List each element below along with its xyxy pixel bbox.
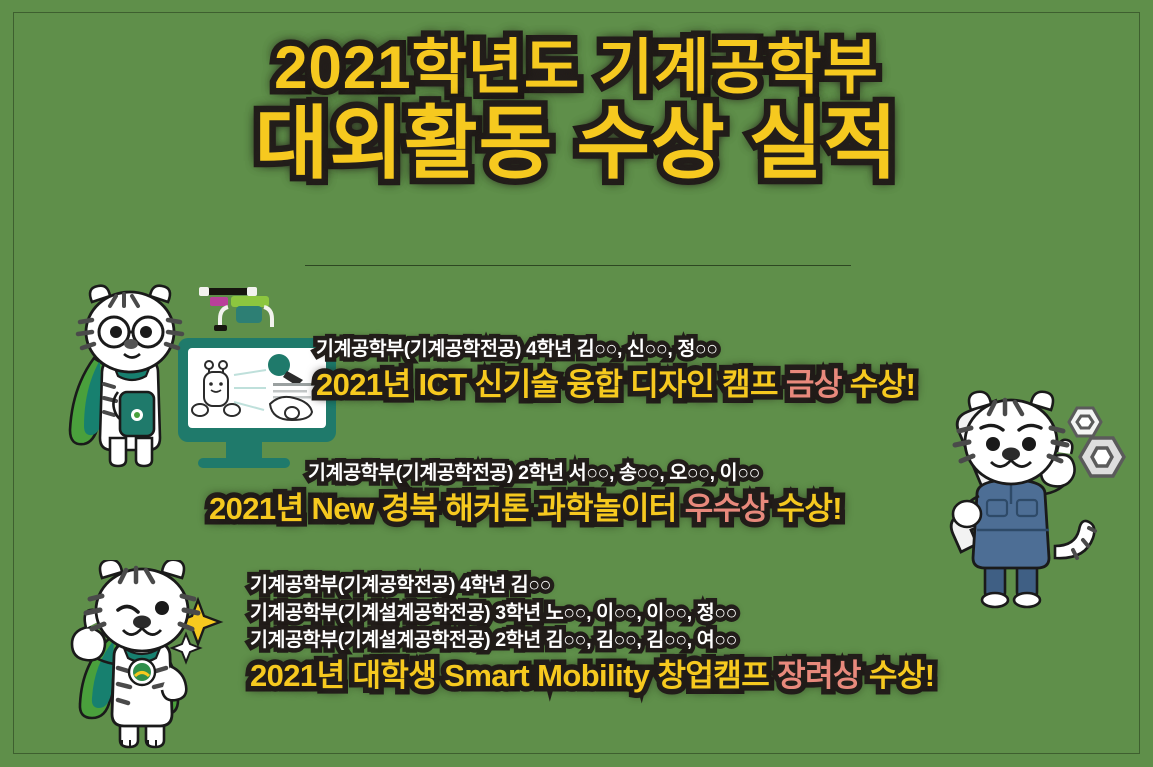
award-entry-2-title: 2021년 New 경북 해커톤 과학놀이터 우수상 수상! [209,489,842,529]
tiger-mechanic-svg [905,390,1135,620]
award-entry-2: 기계공학부(기계공학전공) 2학년 서○○, 송○○, 오○○, 이○○ 202… [209,460,842,529]
drone-icon [199,287,272,331]
award-entry-3-students-line-2: 기계공학부(기계설계공학전공) 3학년 노○○, 이○○, 이○○, 정○○ [250,600,935,628]
award-entry-2-award-name: 우수상 [685,491,769,526]
award-entry-2-students-line-1: 기계공학부(기계공학전공) 2학년 서○○, 송○○, 오○○, 이○○ [308,460,842,488]
title-divider [305,265,851,266]
award-entry-2-suffix: 수상! [768,491,842,526]
award-entry-3: 기계공학부(기계공학전공) 4학년 김○○ 기계공학부(기계설계공학전공) 3학… [250,572,935,696]
poster-root: 2021학년도 기계공학부 대외활동 수상 실적 [0,0,1153,767]
award-entry-3-students-line-3: 기계공학부(기계설계공학전공) 2학년 김○○, 김○○, 김○○, 여○○ [250,627,935,655]
award-entry-1-prefix: 2021년 ICT 신기술 융합 디자인 캠프 [316,367,786,402]
award-entry-3-students-line-1: 기계공학부(기계공학전공) 4학년 김○○ [250,572,935,600]
medal-icon [129,659,155,685]
monitor-icon [178,338,336,468]
award-entry-2-prefix: 2021년 New 경북 해커톤 과학놀이터 [209,491,685,526]
tiger-designer-svg [58,280,338,470]
tiger-winner-with-medal-illustration [52,560,252,765]
award-entry-1: 기계공학부(기계공학전공) 4학년 김○○, 신○○, 정○○ 2021년 IC… [316,336,915,405]
tiger-mechanic-with-wrench-illustration [905,390,1135,625]
award-entry-1-title: 2021년 ICT 신기술 융합 디자인 캠프 금상 수상! [316,365,915,405]
hex-nut-icon-large [1080,438,1124,476]
award-entry-3-suffix: 수상! [861,658,935,693]
page-title-line-2: 대외활동 수상 실적 [0,104,1153,184]
award-entry-3-title: 2021년 대학생 Smart Mobility 창업캠프 장려상 수상! [250,656,935,696]
tiger-winner-svg [52,560,252,760]
award-entry-1-students-line-1: 기계공학부(기계공학전공) 4학년 김○○, 신○○, 정○○ [316,336,915,364]
award-entry-3-award-name: 장려상 [777,658,861,693]
tiger-designer-character [70,286,182,466]
page-title-line-1: 2021학년도 기계공학부 [0,38,1153,98]
award-entry-1-award-name: 금상 [786,367,842,402]
hex-nut-icon-small [1069,408,1101,436]
tiger-designer-with-monitor-illustration [58,280,338,475]
page-title: 2021학년도 기계공학부 대외활동 수상 실적 [0,38,1153,184]
award-entry-3-prefix: 2021년 대학생 Smart Mobility 창업캠프 [250,658,777,693]
